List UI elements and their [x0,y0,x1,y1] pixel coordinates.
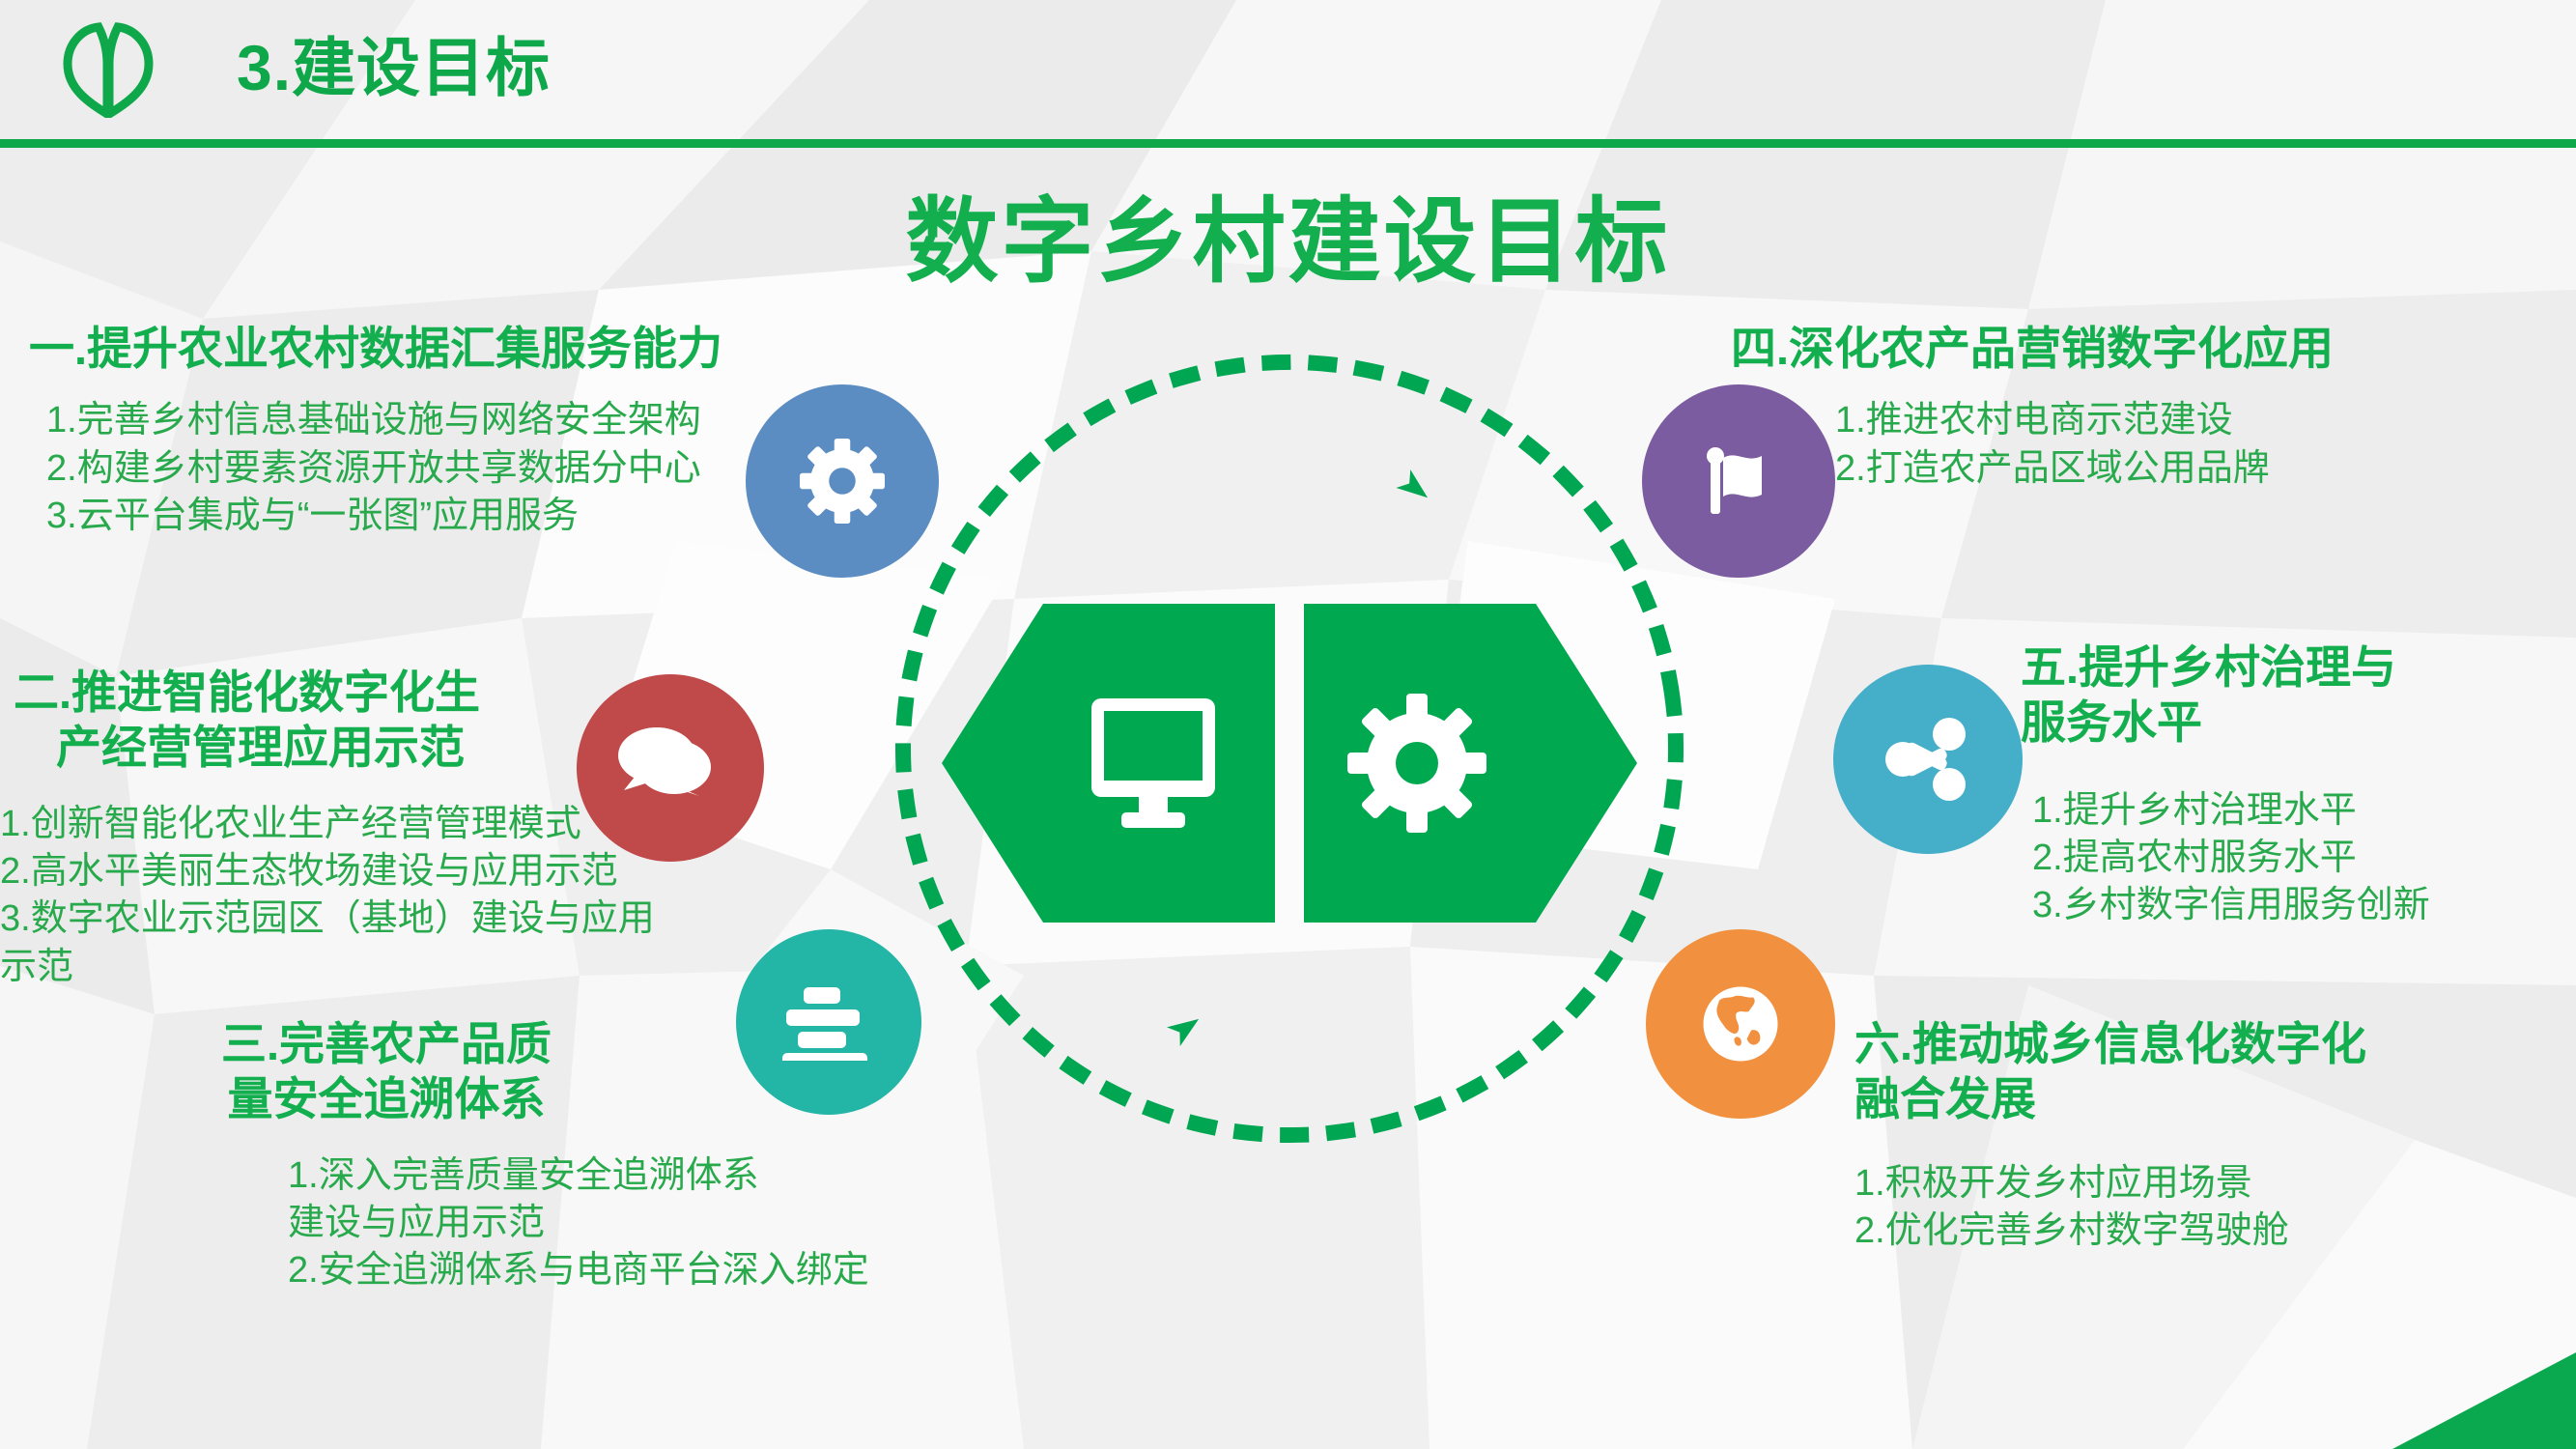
section-4-list: 1.推进农村电商示范建设 2.打造农产品区域公用品牌 [1681,397,2560,493]
section-6-title-line1: 六.推动城乡信息化数字化 [1854,1016,2576,1071]
list-item: 2.构建乡村要素资源开放共享数据分中心 [46,445,918,493]
gear-icon [1347,694,1486,833]
list-item: 2.高水平美丽生态牧场建设与应用示范 [0,848,666,895]
list-item: 2.优化完善乡村数字驾驶舱 [1854,1207,2576,1255]
leaf-logo-icon [60,21,156,118]
arrow-head-icon [1396,469,1434,507]
section-3-title: 三.完善农产品质 量安全追溯体系 [164,1016,609,1127]
globe-icon [1687,971,1794,1077]
list-item: 1.深入完善质量安全追溯体系建设与应用示范 [288,1152,782,1248]
main-title: 数字乡村建设目标 [0,166,2576,300]
node-circle-6[interactable] [1646,929,1835,1119]
section-6-title: 六.推动城乡信息化数字化 融合发展 [1854,1016,2576,1127]
arrow-head-icon [1167,1009,1205,1046]
section-5: 五.提升乡村治理与 服务水平 1.提升乡村治理水平 2.提高农村服务水平 3.乡… [2021,639,2576,930]
list-item: 3.云平台集成与“一张图”应用服务 [46,493,918,540]
slide-header: 3.建设目标 [0,0,2576,145]
list-item: 2.安全追溯体系与电商平台深入绑定 [288,1247,782,1294]
section-5-title-line1: 五.提升乡村治理与 [2021,639,2576,695]
list-item: 3.数字农业示范园区（基地）建设与应用示范 [0,895,666,991]
section-2-title-line2: 产经营管理应用示范 [14,720,676,775]
list-item: 1.提升乡村治理水平 [2032,787,2576,835]
section-2: 二.推进智能化数字化生 产经营管理应用示范 1.创新智能化农业生产经营管理模式 … [0,665,676,991]
section-1: 一.提升农业农村数据汇集服务能力 1.完善乡村信息基础设施与网络安全架构 2.构… [29,321,918,541]
section-1-title: 一.提升农业农村数据汇集服务能力 [29,321,918,376]
section-5-list: 1.提升乡村治理水平 2.提高农村服务水平 3.乡村数字信用服务创新 [2021,787,2576,930]
section-6-title-line2: 融合发展 [1854,1071,2576,1126]
list-item: 2.打造农产品区域公用品牌 [1835,445,2560,493]
section-3-title-line1: 三.完善农产品质 [164,1016,609,1071]
header-divider [0,139,2576,148]
section-1-list: 1.完善乡村信息基础设施与网络安全架构 2.构建乡村要素资源开放共享数据分中心 … [29,397,918,540]
section-6-list: 1.积极开发乡村应用场景 2.优化完善乡村数字驾驶舱 [1854,1160,2576,1256]
list-item: 1.积极开发乡村应用场景 [1854,1160,2576,1207]
section-2-list: 1.创新智能化农业生产经营管理模式 2.高水平美丽生态牧场建设与应用示范 3.数… [0,801,666,992]
section-2-title-line1: 二.推进智能化数字化生 [14,665,676,720]
section-4: 四.深化农产品营销数字化应用 1.推进农村电商示范建设 2.打造农产品区域公用品… [1681,321,2560,493]
section-4-title: 四.深化农产品营销数字化应用 [1681,321,2560,376]
node-circle-5[interactable] [1833,665,2023,854]
section-3-list: 1.深入完善质量安全追溯体系建设与应用示范 2.安全追溯体系与电商平台深入绑定 [164,1152,782,1295]
list-item: 1.创新智能化农业生产经营管理模式 [0,801,666,848]
list-item: 3.乡村数字信用服务创新 [2032,882,2576,929]
list-item: 2.提高农村服务水平 [2032,835,2576,882]
section-3-title-line2: 量安全追溯体系 [164,1071,609,1126]
section-5-title-line2: 服务水平 [2021,695,2576,750]
page-title: 3.建设目标 [237,19,551,116]
section-2-title: 二.推进智能化数字化生 产经营管理应用示范 [0,665,676,776]
list-item: 1.推进农村电商示范建设 [1835,397,2560,444]
section-5-title: 五.提升乡村治理与 服务水平 [2021,639,2576,751]
section-3: 三.完善农产品质 量安全追溯体系 1.深入完善质量安全追溯体系建设与应用示范 2… [164,1016,927,1295]
share-icon [1880,711,1976,808]
section-6: 六.推动城乡信息化数字化 融合发展 1.积极开发乡村应用场景 2.优化完善乡村数… [1854,1016,2576,1255]
list-item: 1.完善乡村信息基础设施与网络安全架构 [46,397,918,444]
center-hexagon-graphic [942,604,1637,923]
corner-triangle-decoration [2364,1352,2576,1449]
